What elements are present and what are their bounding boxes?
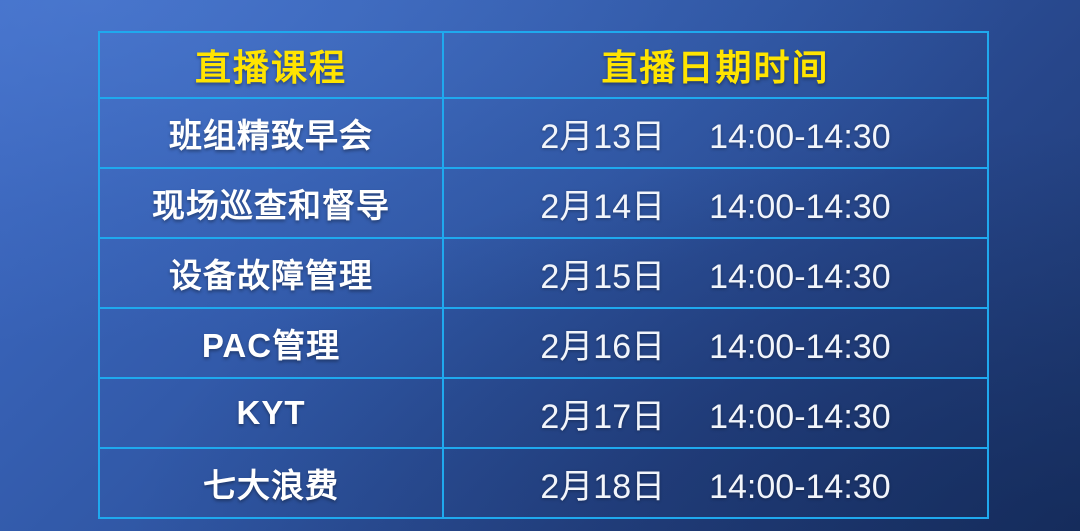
column-header-datetime: 直播日期时间	[443, 32, 988, 98]
cell-datetime: 2月17日 14:00-14:30	[443, 378, 988, 448]
cell-time: 14:00-14:30	[709, 328, 891, 367]
table-row: 设备故障管理 2月15日 14:00-14:30	[99, 238, 988, 308]
column-header-course: 直播课程	[99, 32, 443, 98]
cell-datetime: 2月15日 14:00-14:30	[443, 238, 988, 308]
table-body: 班组精致早会 2月13日 14:00-14:30 现场巡查和督导 2月14日 1…	[99, 98, 988, 518]
cell-course: 七大浪费	[99, 448, 443, 518]
table-header: 直播课程 直播日期时间	[99, 32, 988, 98]
cell-datetime: 2月16日 14:00-14:30	[443, 308, 988, 378]
cell-date: 2月17日	[540, 389, 665, 438]
cell-date: 2月13日	[540, 109, 665, 158]
cell-time: 14:00-14:30	[709, 398, 891, 437]
cell-course: KYT	[99, 378, 443, 448]
table-row: PAC管理 2月16日 14:00-14:30	[99, 308, 988, 378]
cell-date: 2月15日	[540, 249, 665, 298]
table-row: 现场巡查和督导 2月14日 14:00-14:30	[99, 168, 988, 238]
live-schedule-table: 直播课程 直播日期时间 班组精致早会 2月13日 14:00-14:30 现场巡…	[98, 31, 989, 519]
table-row: 七大浪费 2月18日 14:00-14:30	[99, 448, 988, 518]
cell-course: 设备故障管理	[99, 238, 443, 308]
cell-time: 14:00-14:30	[709, 468, 891, 507]
table-row: 班组精致早会 2月13日 14:00-14:30	[99, 98, 988, 168]
cell-date: 2月16日	[540, 319, 665, 368]
cell-course: 现场巡查和督导	[99, 168, 443, 238]
cell-datetime: 2月18日 14:00-14:30	[443, 448, 988, 518]
table-header-row: 直播课程 直播日期时间	[99, 32, 988, 98]
cell-datetime: 2月14日 14:00-14:30	[443, 168, 988, 238]
table-row: KYT 2月17日 14:00-14:30	[99, 378, 988, 448]
live-schedule-table-container: 直播课程 直播日期时间 班组精致早会 2月13日 14:00-14:30 现场巡…	[98, 31, 983, 502]
cell-date: 2月18日	[540, 459, 665, 508]
cell-time: 14:00-14:30	[709, 188, 891, 227]
cell-date: 2月14日	[540, 179, 665, 228]
cell-time: 14:00-14:30	[709, 258, 891, 297]
cell-course: 班组精致早会	[99, 98, 443, 168]
cell-time: 14:00-14:30	[709, 118, 891, 157]
cell-datetime: 2月13日 14:00-14:30	[443, 98, 988, 168]
cell-course: PAC管理	[99, 308, 443, 378]
